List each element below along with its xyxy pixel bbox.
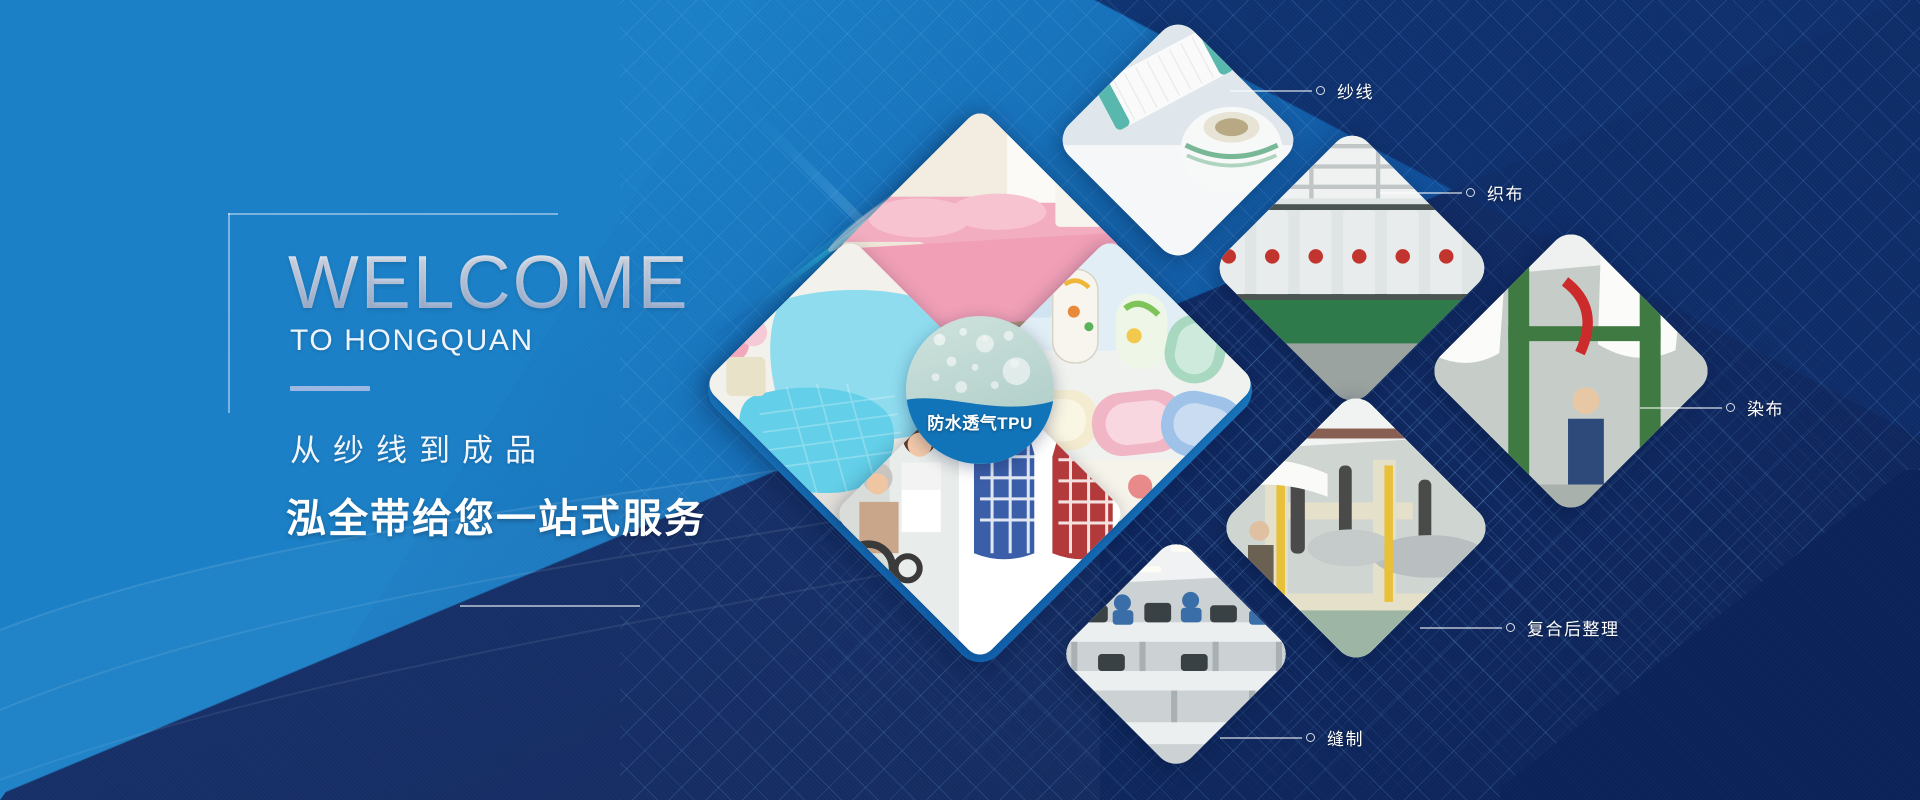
callout-dot-weaving bbox=[1466, 188, 1475, 197]
leader-line-sewing bbox=[1220, 732, 1306, 744]
divider-bottom bbox=[460, 605, 640, 607]
callout-dyeing[interactable]: 染布 bbox=[1640, 395, 1784, 420]
callout-sewing[interactable]: 缝制 bbox=[1220, 725, 1364, 750]
callout-label-laminating: 复合后整理 bbox=[1527, 615, 1620, 640]
callout-dot-sewing bbox=[1306, 733, 1315, 742]
leader-line-laminating bbox=[1420, 622, 1506, 634]
callout-label-weaving: 织布 bbox=[1487, 180, 1524, 205]
callout-dot-yarn bbox=[1316, 86, 1325, 95]
hero-banner: WELCOME TO HONGQUAN 从纱线到成品 泓全带给您一站式服务 bbox=[0, 0, 1920, 800]
tpu-feature-badge[interactable]: 防水透气TPU bbox=[906, 316, 1054, 464]
badge-label: 防水透气TPU bbox=[906, 409, 1054, 434]
leader-line-weaving bbox=[1380, 187, 1466, 199]
frame-border-vertical bbox=[228, 213, 230, 413]
callout-dot-dyeing bbox=[1726, 403, 1735, 412]
frame-border-horizontal bbox=[228, 213, 558, 215]
leader-line-dyeing bbox=[1640, 402, 1726, 414]
callout-label-sewing: 缝制 bbox=[1327, 725, 1364, 750]
callout-yarn[interactable]: 纱线 bbox=[1230, 78, 1374, 103]
callout-weaving[interactable]: 织布 bbox=[1380, 180, 1524, 205]
callout-laminating[interactable]: 复合后整理 bbox=[1420, 615, 1620, 640]
leader-line-yarn bbox=[1230, 85, 1316, 97]
divider-accent bbox=[290, 386, 370, 391]
callout-label-dyeing: 染布 bbox=[1747, 395, 1784, 420]
callout-label-yarn: 纱线 bbox=[1337, 78, 1374, 103]
callout-dot-laminating bbox=[1506, 623, 1515, 632]
